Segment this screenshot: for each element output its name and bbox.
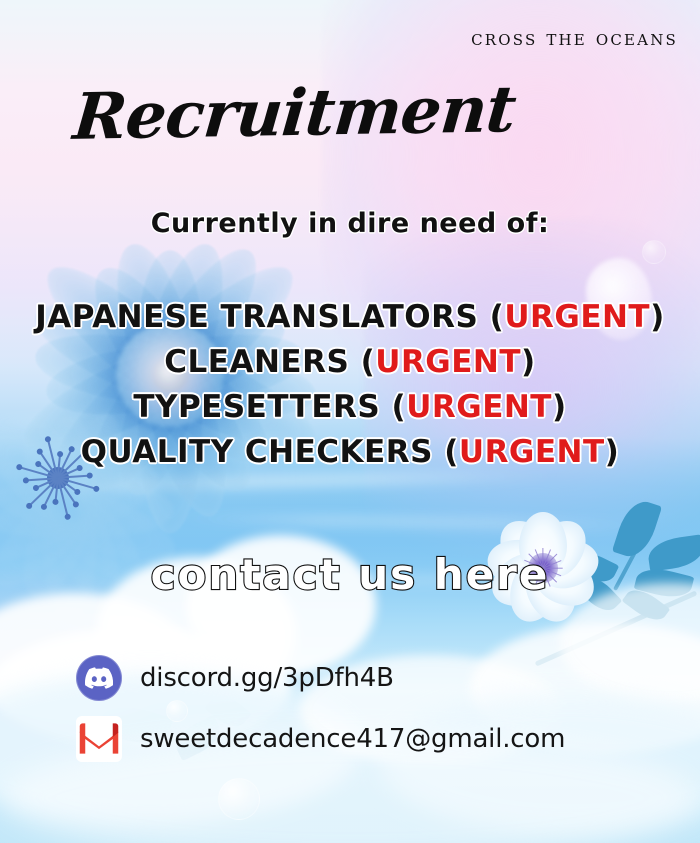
contact-gmail[interactable]: sweetdecadence417@gmail.com — [76, 716, 565, 762]
bubble — [642, 240, 666, 264]
role-paren-open: ( — [392, 389, 407, 425]
role-urgent-tag: URGENT — [504, 299, 650, 335]
role-paren-open: ( — [490, 299, 505, 335]
role-paren-close: ) — [650, 299, 665, 335]
role-line: TYPESETTERS (URGENT) — [0, 385, 700, 430]
role-paren-close: ) — [605, 434, 620, 470]
role-name: TYPESETTERS — [133, 389, 391, 425]
subtitle: Currently in dire need of: — [0, 208, 700, 239]
role-paren-close: ) — [552, 389, 567, 425]
gmail-address-text[interactable]: sweetdecadence417@gmail.com — [140, 724, 565, 754]
gmail-icon — [76, 716, 122, 762]
role-urgent-tag: URGENT — [375, 344, 521, 380]
role-urgent-tag: URGENT — [406, 389, 552, 425]
role-name: CLEANERS — [164, 344, 360, 380]
role-name: JAPANESE TRANSLATORS — [35, 299, 489, 335]
role-line: QUALITY CHECKERS (URGENT) — [0, 430, 700, 475]
bubble — [218, 778, 260, 820]
recruitment-poster: Cross the Oceans Recruitment Currently i… — [0, 0, 700, 843]
contact-discord[interactable]: discord.gg/3pDfh4B — [76, 655, 394, 701]
role-line: JAPANESE TRANSLATORS (URGENT) — [0, 295, 700, 340]
contact-heading: contact us here — [0, 550, 700, 599]
page-title: Recruitment — [71, 78, 518, 150]
role-paren-close: ) — [521, 344, 536, 380]
brand-name: Cross the Oceans — [471, 26, 678, 50]
role-urgent-tag: URGENT — [459, 434, 605, 470]
discord-link-text[interactable]: discord.gg/3pDfh4B — [140, 663, 394, 693]
role-line: CLEANERS (URGENT) — [0, 340, 700, 385]
role-paren-open: ( — [444, 434, 459, 470]
role-name: QUALITY CHECKERS — [81, 434, 445, 470]
roles-list: JAPANESE TRANSLATORS (URGENT)CLEANERS (U… — [0, 295, 700, 475]
role-paren-open: ( — [361, 344, 376, 380]
discord-icon — [76, 655, 122, 701]
